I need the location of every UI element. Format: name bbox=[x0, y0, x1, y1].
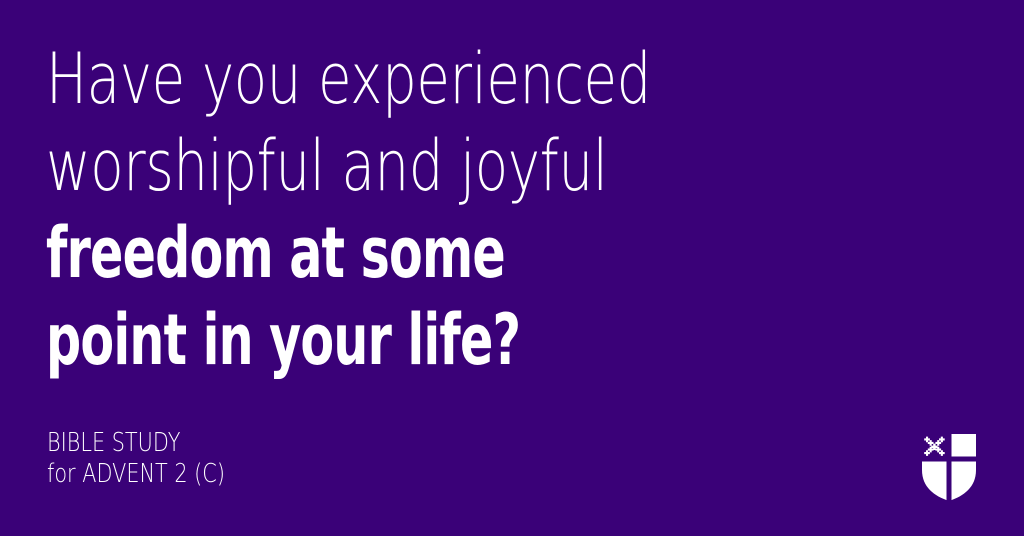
headline-line-2: worshipful and joyful bbox=[46, 123, 670, 210]
headline-line-3: freedom at some bbox=[46, 210, 670, 297]
caption-line-season: for ADVENT 2 (C) bbox=[47, 459, 225, 490]
caption-line-bible-study: BIBLE STUDY bbox=[47, 428, 225, 459]
episcopal-church-shield-logo bbox=[920, 430, 978, 502]
caption: BIBLE STUDY for ADVENT 2 (C) bbox=[47, 428, 269, 490]
headline-line-4: point in your life? bbox=[46, 297, 670, 384]
headline-line-1: Have you experienced bbox=[46, 36, 670, 123]
headline: Have you experienced worshipful and joyf… bbox=[46, 36, 846, 384]
poster-canvas: Have you experienced worshipful and joyf… bbox=[0, 0, 1024, 536]
